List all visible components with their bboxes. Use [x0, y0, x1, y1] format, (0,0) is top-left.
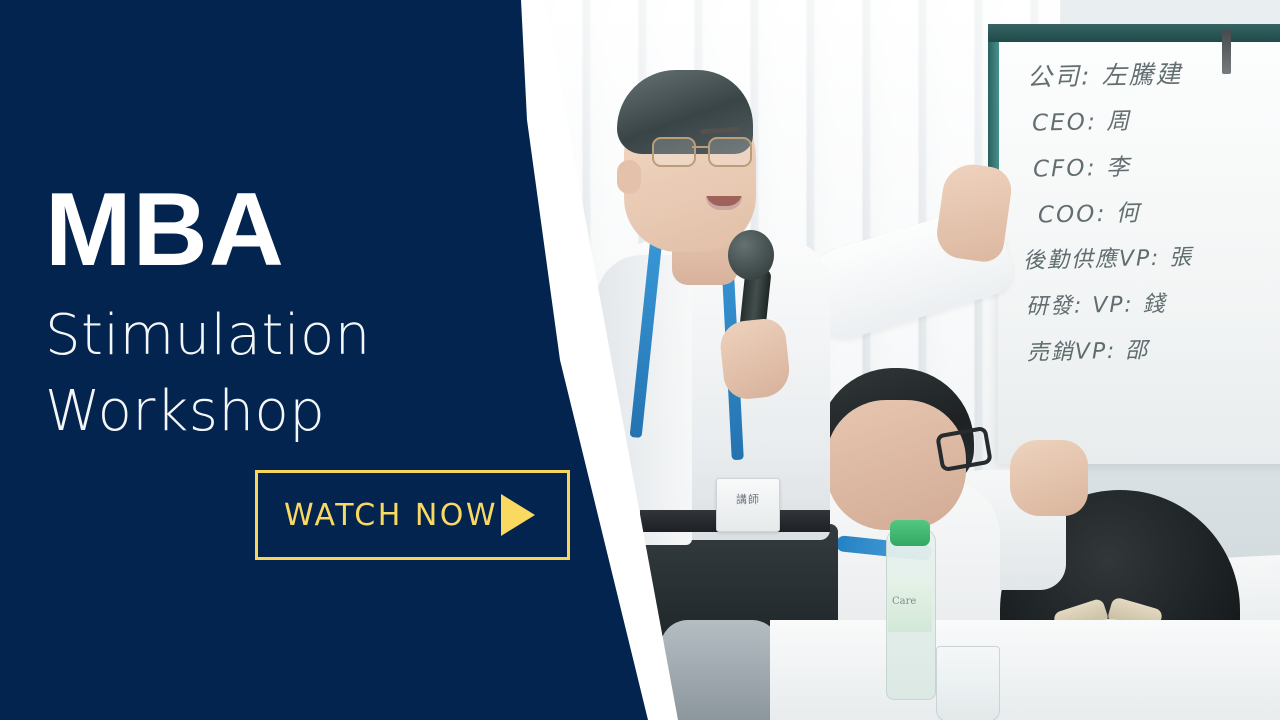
page-subtitle-line2: Workshop [45, 374, 371, 450]
title-copy: MBA Stimulation Workshop [45, 0, 505, 720]
speaker-mic-hand [718, 317, 792, 401]
watch-now-label: WATCH NOW [284, 498, 498, 533]
water-bottle-label: Care [888, 580, 932, 632]
play-triangle-icon [501, 494, 535, 536]
whiteboard-line: 公司: 左騰建 [1005, 49, 1280, 101]
whiteboard-line: CFO: 李 [1007, 141, 1280, 193]
page-subtitle-line1: Stimulation [45, 303, 371, 368]
table-near [770, 620, 1280, 720]
speaker-glasses-icon [652, 137, 756, 163]
page-title: MBA [45, 178, 285, 282]
whiteboard-line: 後勤供應VP: 張 [1009, 233, 1280, 285]
name-badge-text: 講師 [723, 491, 773, 507]
whiteboard-handwriting: 公司: 左騰建 CEO: 周 CFO: 李 COO: 何 後勤供應VP: 張 研… [1005, 49, 1280, 377]
whiteboard-leg [988, 24, 999, 174]
speaker-ear [617, 160, 641, 194]
whiteboard-line: COO: 何 [1008, 187, 1280, 239]
water-bottle-cap [890, 520, 930, 546]
attendee-fist [1010, 440, 1088, 516]
video-thumbnail: 公司: 左騰建 CEO: 周 CFO: 李 COO: 何 後勤供應VP: 張 研… [0, 0, 1280, 720]
whiteboard-line: 売銷VP: 邵 [1010, 325, 1280, 377]
page-subtitle: Stimulation Workshop [45, 298, 371, 450]
whiteboard-rail [988, 24, 1280, 42]
name-badge: 講師 [716, 478, 780, 532]
plastic-cup [936, 646, 1000, 720]
whiteboard-line: CEO: 周 [1006, 95, 1280, 147]
watch-now-button[interactable]: WATCH NOW [255, 470, 570, 560]
chair-back [660, 620, 780, 720]
microphone-head [728, 230, 774, 280]
water-bottle-brand: Care [892, 596, 916, 607]
whiteboard-line: 研發: VP: 錢 [1009, 279, 1280, 331]
